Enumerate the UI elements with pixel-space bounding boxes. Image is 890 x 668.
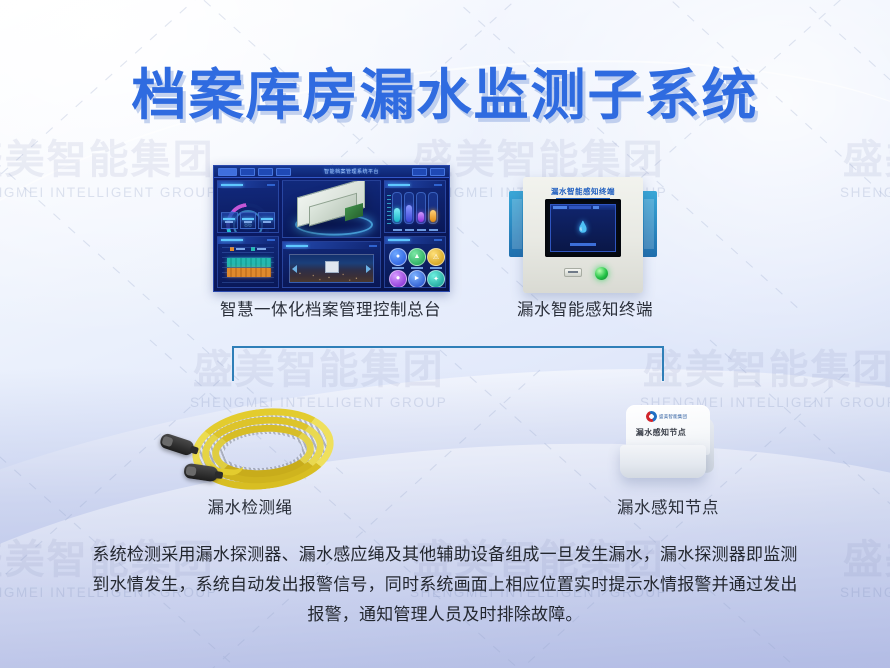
stat-card[interactable]	[240, 212, 257, 229]
power-icon: ⏺	[389, 270, 407, 288]
gauge-stat-row	[221, 212, 275, 229]
node-brand-logo: 盛美智能集团	[646, 411, 687, 422]
dashboard-clock-chip	[430, 168, 445, 176]
function-button[interactable]: ✦	[427, 270, 445, 289]
terminal-screen[interactable]: 💧	[545, 199, 621, 257]
terminal-status-led	[595, 267, 608, 280]
gear-icon: ✦	[427, 270, 445, 288]
vertical-gauge-labels	[391, 229, 439, 231]
panel-title-bar	[385, 181, 445, 188]
dashboard-body: 86	[214, 177, 449, 291]
node-device-text: 漏水感知节点	[626, 427, 696, 438]
video-next-icon[interactable]	[366, 265, 371, 273]
console-dashboard-screen: 智能档案管理系统平台 86	[213, 165, 450, 292]
leak-sensing-terminal: 漏水智能感知终端 💧	[503, 177, 663, 293]
model-panel	[282, 180, 381, 238]
connector-bracket	[232, 346, 664, 381]
terminal-screen-status	[570, 243, 596, 246]
alert-icon: ⚠	[427, 248, 445, 266]
video-panel	[282, 241, 381, 288]
dashboard-nav-chip[interactable]	[276, 168, 291, 176]
function-button[interactable]: ⚠	[427, 248, 445, 269]
chart-band-orange	[227, 268, 271, 277]
description-paragraph: 系统检测采用漏水探测器、漏水感应绳及其他辅助设备组成一旦发生漏水，漏水探测器即监…	[88, 540, 802, 630]
leak-detection-rope	[150, 405, 350, 490]
caption-rope: 漏水检测绳	[155, 494, 345, 518]
poster-canvas: 盛美智能集团 SHENGMEI INTELLIGENT GROUP 盛美智能集团…	[0, 0, 890, 668]
function-icon-grid: ● ▲ ⚠ ⏺ ► ✦	[389, 248, 441, 285]
terminal-body: 漏水智能感知终端 💧	[523, 177, 643, 293]
vertical-gauge	[404, 192, 414, 224]
dashboard-left-column: 86	[217, 180, 279, 288]
user-icon: ●	[389, 248, 407, 266]
stat-card[interactable]	[258, 212, 275, 229]
archive-room-3d-model[interactable]	[289, 180, 375, 234]
tube-panel	[384, 180, 446, 233]
dashboard-right-column: ● ▲ ⚠ ⏺ ► ✦	[384, 180, 446, 288]
area-chart-panel	[217, 236, 279, 289]
video-subject	[325, 261, 339, 273]
vertical-gauge	[392, 192, 402, 224]
terminal-screen-topbar	[551, 205, 615, 210]
function-button[interactable]: ▲	[408, 248, 426, 269]
caption-node: 漏水感知节点	[573, 494, 763, 518]
area-chart	[222, 247, 274, 284]
video-prev-icon[interactable]	[292, 265, 297, 273]
speaker-icon: ►	[408, 270, 426, 288]
terminal-side-fin-right	[641, 191, 657, 257]
dashboard-header-right-controls	[412, 168, 449, 176]
caption-console: 智慧一体化档案管理控制总台	[183, 296, 478, 320]
dashboard-nav-chip[interactable]	[218, 168, 237, 176]
video-feed[interactable]	[289, 254, 374, 283]
page-title: 档案库房漏水监测子系统	[0, 50, 890, 130]
dashboard-header-left-controls	[214, 168, 291, 176]
dashboard-status-chip[interactable]	[412, 168, 427, 176]
terminal-reset-button[interactable]	[564, 268, 582, 277]
panel-title-bar	[218, 181, 278, 188]
panel-title-bar	[283, 242, 380, 249]
vertical-gauge-group	[391, 194, 439, 224]
function-button[interactable]: ●	[389, 248, 407, 269]
leak-sensing-node: 盛美智能集团 漏水感知节点	[618, 405, 718, 485]
dashboard-title: 智能档案管理系统平台	[291, 168, 412, 175]
terminal-screen-ui: 💧	[550, 204, 616, 252]
node-brand-text: 盛美智能集团	[659, 414, 687, 420]
stat-card[interactable]	[221, 212, 238, 229]
icon-grid-panel: ● ▲ ⚠ ⏺ ► ✦	[384, 236, 446, 289]
function-button[interactable]: ⏺	[389, 270, 407, 289]
rope-connector	[159, 432, 196, 457]
chart-bands	[227, 251, 271, 277]
terminal-device-label: 漏水智能感知终端	[523, 186, 643, 197]
gauge-panel: 86	[217, 180, 279, 233]
dashboard-nav-chip[interactable]	[240, 168, 255, 176]
panel-title-bar	[218, 237, 278, 244]
plant-icon: ▲	[408, 248, 426, 266]
function-button[interactable]: ►	[408, 270, 426, 289]
panel-title-bar	[385, 237, 445, 244]
node-front-face	[620, 445, 706, 478]
water-drop-icon: 💧	[576, 221, 590, 234]
chart-band-teal	[227, 258, 271, 267]
dashboard-nav-chip[interactable]	[258, 168, 273, 176]
brand-mark-icon	[646, 411, 657, 422]
vertical-gauge	[428, 192, 438, 224]
dashboard-middle-column	[282, 180, 381, 288]
vertical-gauge	[416, 192, 426, 224]
caption-terminal: 漏水智能感知终端	[490, 296, 680, 320]
